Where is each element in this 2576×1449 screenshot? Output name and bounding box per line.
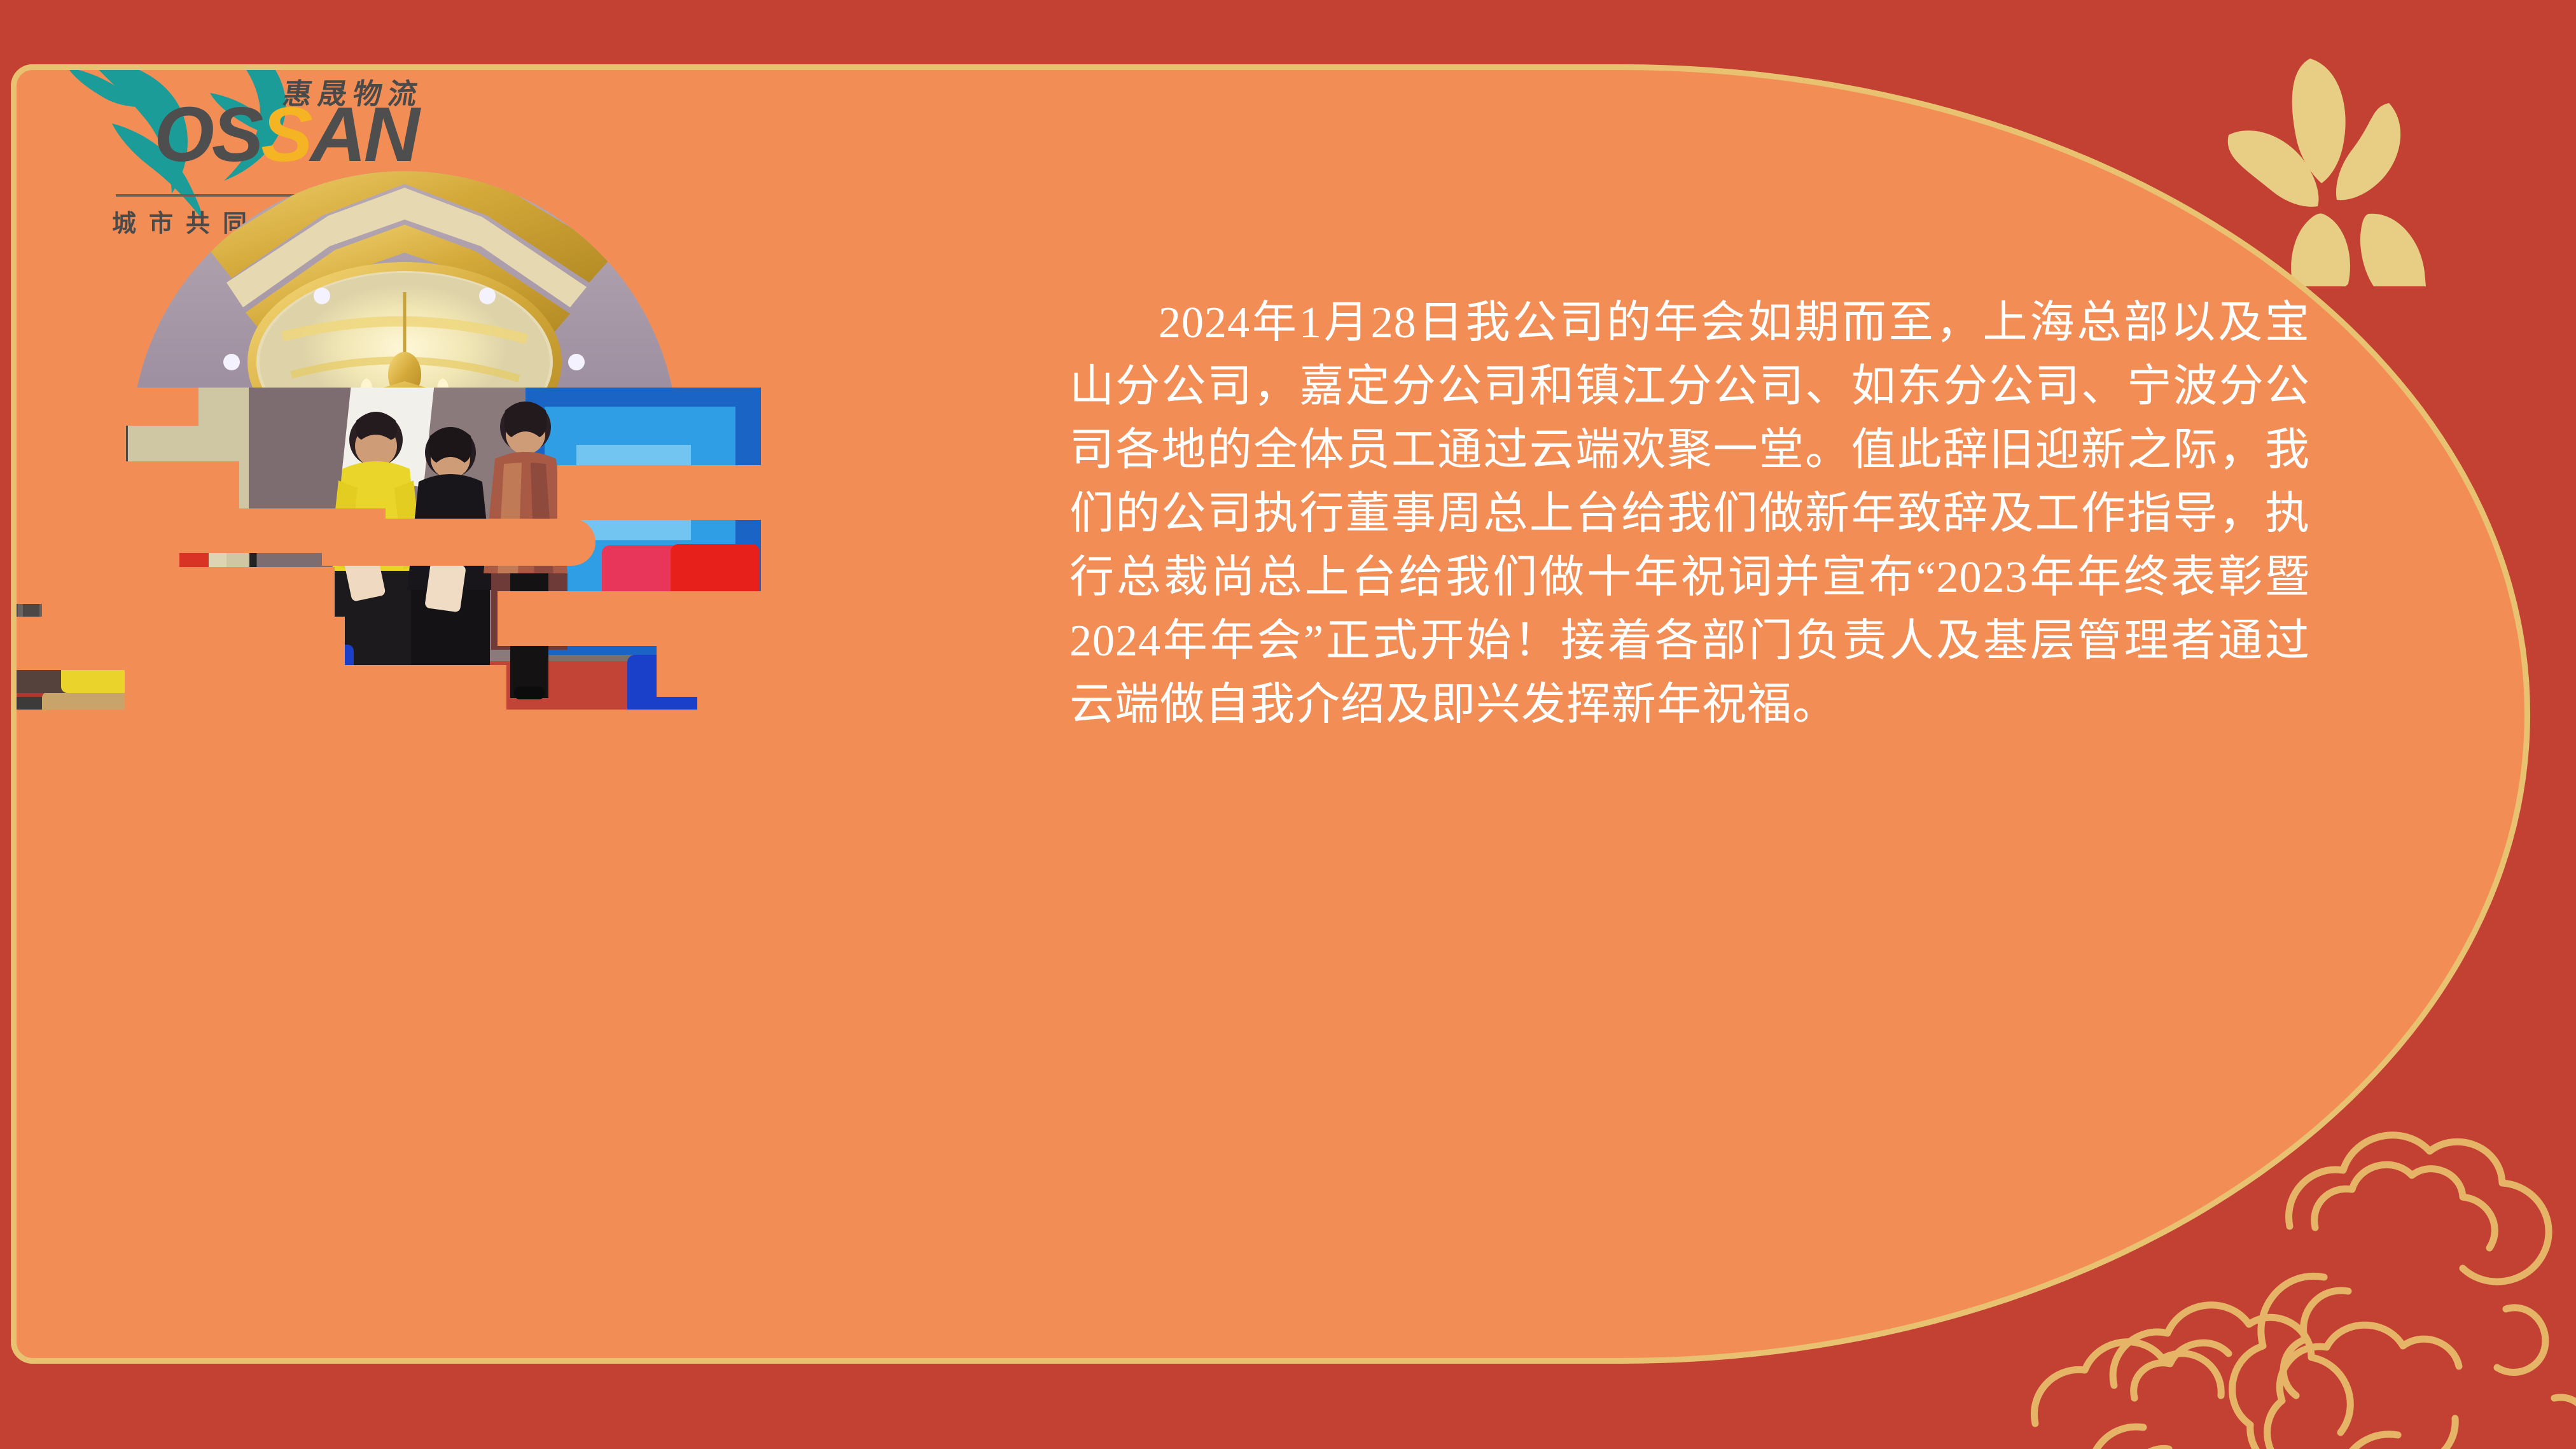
photo-mask-bar: [331, 693, 406, 750]
photo-mask-bar: [42, 567, 335, 622]
photo-mask-bar: [557, 465, 761, 520]
photo-mask-bar: [11, 617, 345, 670]
content-panel: 惠晟物流 OSSAN 城市共同配送专家: [11, 64, 2530, 1364]
photo-mask-bar: [322, 519, 595, 566]
photo-mask-bar: [11, 388, 198, 426]
poster-canvas: 惠晟物流 OSSAN 城市共同配送专家: [0, 0, 2576, 1449]
photo-mask-bar: [697, 683, 761, 715]
photo-mask-bar: [498, 591, 761, 646]
article-body: 2024年1月28日我公司的年会如期而至，上海总部以及宝山分公司，嘉定分公司和镇…: [1069, 291, 2310, 737]
stage-photo-masked: [11, 388, 761, 750]
photo-mask-bar: [42, 466, 80, 517]
event-photo-collage: [11, 114, 945, 750]
photo-mask-bar: [125, 665, 506, 713]
